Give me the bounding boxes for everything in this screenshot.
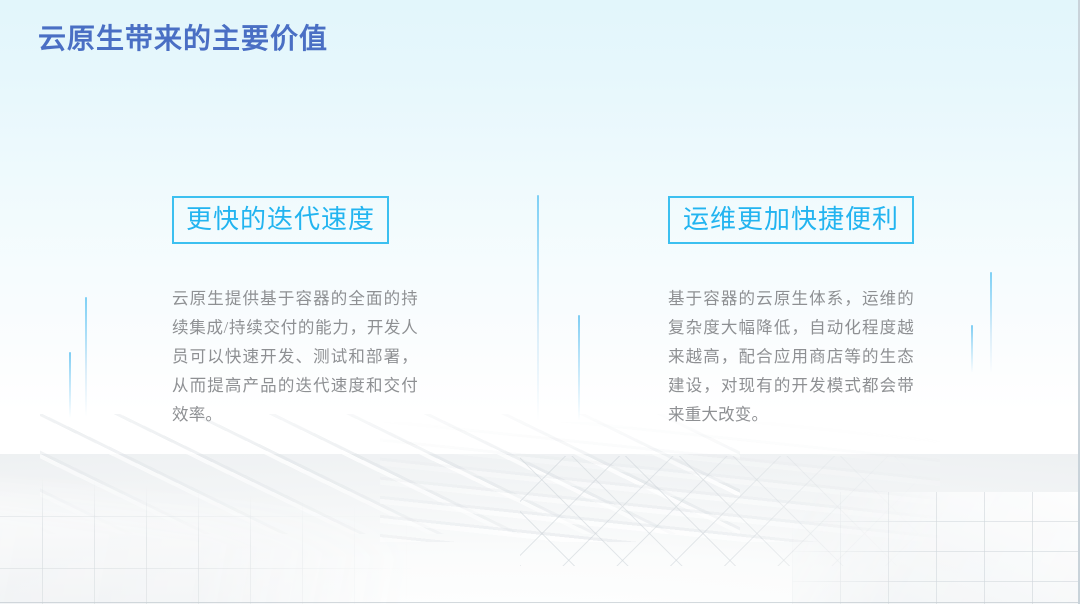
value-body-1: 云原生提供基于容器的全面的持续集成/持续交付的能力，开发人员可以快速开发、测试和… — [172, 284, 418, 429]
value-column-1: 更快的迭代速度 云原生提供基于容器的全面的持续集成/持续交付的能力，开发人员可以… — [172, 196, 418, 429]
value-heading-2: 运维更加快捷便利 — [668, 196, 914, 244]
value-body-2: 基于容器的云原生体系，运维的复杂度大幅降低，自动化程度越来越高，配合应用商店等的… — [668, 284, 914, 429]
value-heading-1: 更快的迭代速度 — [172, 196, 389, 244]
slide-canvas: 云原生带来的主要价值 更快的迭代速度 云原生提供基于容器的全面的持续集成/持续交… — [0, 0, 1080, 604]
value-column-2: 运维更加快捷便利 基于容器的云原生体系，运维的复杂度大幅降低，自动化程度越来越高… — [668, 196, 914, 429]
value-columns: 更快的迭代速度 云原生提供基于容器的全面的持续集成/持续交付的能力，开发人员可以… — [0, 0, 1080, 604]
